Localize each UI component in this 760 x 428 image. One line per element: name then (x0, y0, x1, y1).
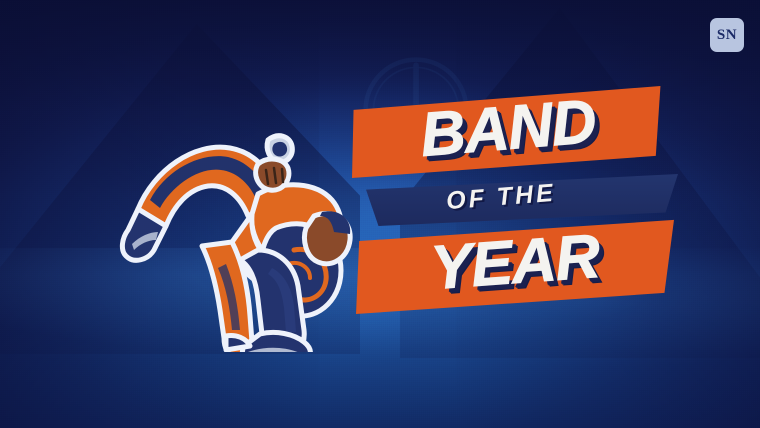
title-lockup: BAND OF THE YEAR (352, 86, 682, 316)
sporting-news-logo[interactable]: SN (710, 18, 744, 52)
band-banner: BAND (352, 86, 662, 178)
title-line-band: BAND (356, 82, 661, 176)
graphic-canvas: .ol { stroke:#eef2fb; stroke-width:5; st… (0, 0, 760, 428)
sousaphone-player-illustration: .ol { stroke:#eef2fb; stroke-width:5; st… (108, 104, 356, 352)
year-banner: YEAR (356, 218, 674, 314)
sporting-news-logo-text: SN (717, 27, 737, 44)
